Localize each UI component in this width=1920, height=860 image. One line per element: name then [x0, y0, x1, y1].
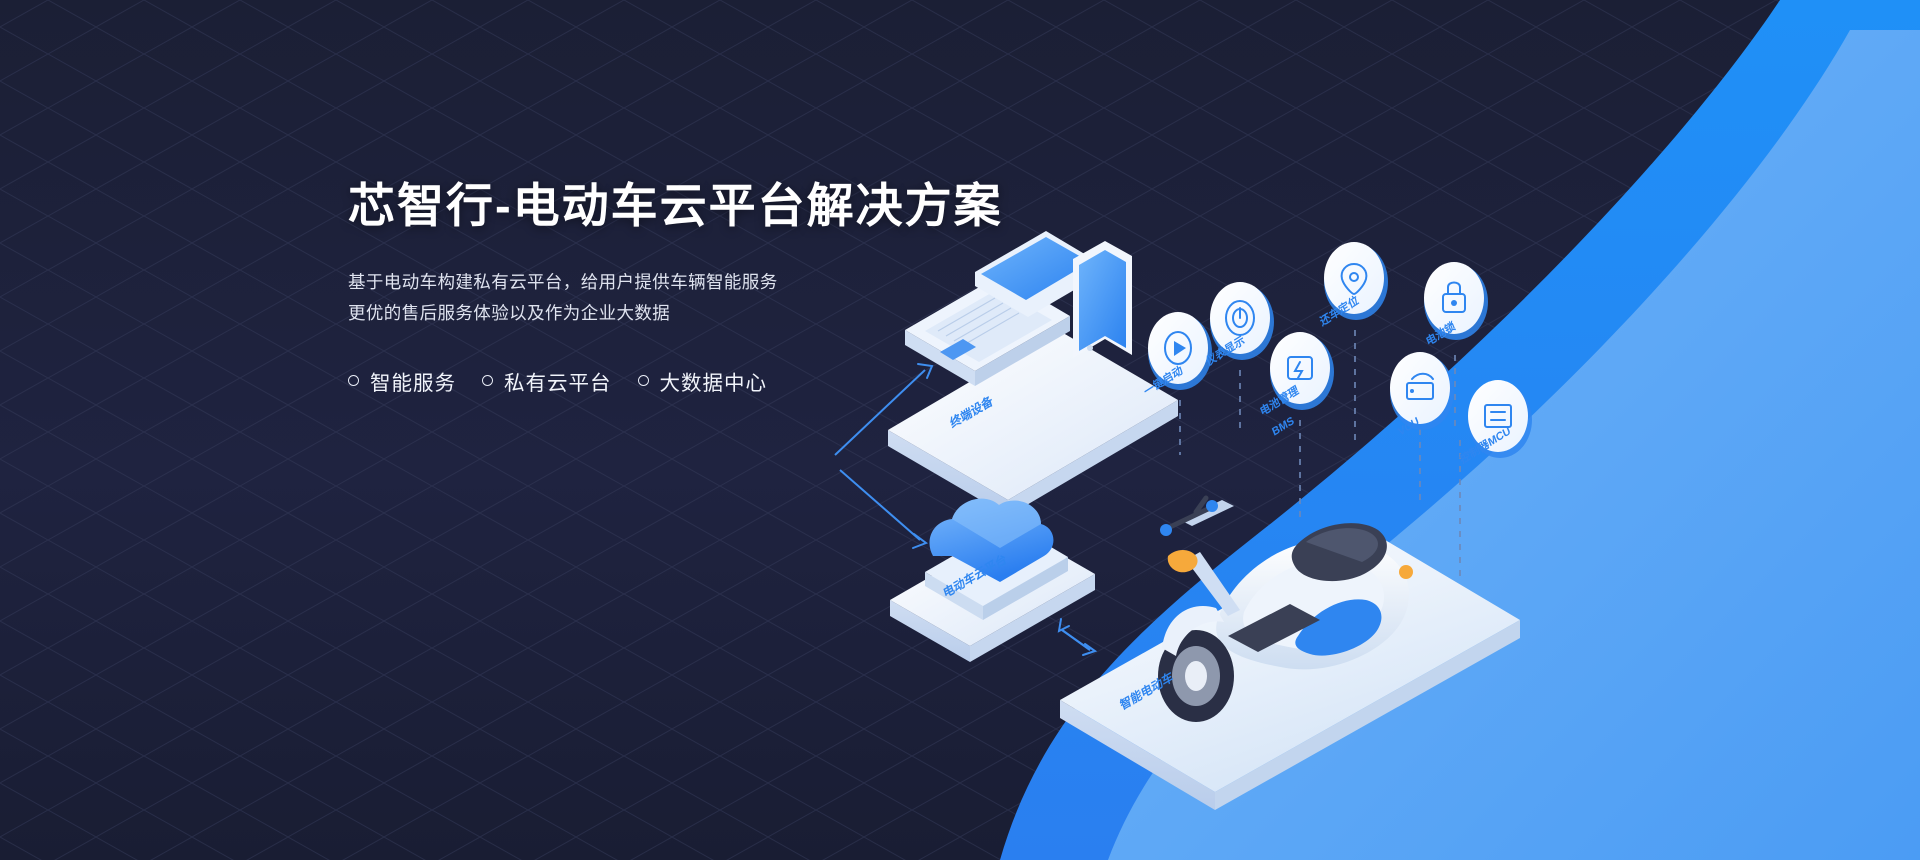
- arrow-line-cloud: [840, 470, 920, 540]
- badge-vcu[interactable]: VCU: [1390, 352, 1454, 439]
- badge-one-key-start[interactable]: 一键启动: [1142, 312, 1212, 399]
- arrow-line-bike-b: [1062, 630, 1090, 650]
- platform-ebike: 智能电动车: [1060, 498, 1520, 810]
- platform-cloud: 电动车云平台: [890, 499, 1095, 662]
- badge-dashboard-display[interactable]: 仪表显示: [1203, 282, 1274, 369]
- badge-label-sub: BMS: [1271, 415, 1296, 439]
- badge-battery-lock[interactable]: 电池锁: [1424, 262, 1488, 349]
- platform-terminal-devices: 终端设备: [888, 231, 1178, 516]
- isometric-illustration: 终端设备 电动车云平台: [0, 0, 1920, 860]
- badge-return-location[interactable]: 还车定位: [1317, 242, 1388, 329]
- hero-banner: 芯智行-电动车云平台解决方案 基于电动车构建私有云平台，给用户提供车辆智能服务 …: [0, 0, 1920, 860]
- badge-battery-management[interactable]: 电池管理 BMS: [1258, 332, 1334, 439]
- badge-controller-mcu[interactable]: 控制器MCU: [1458, 380, 1532, 467]
- arrow-head-bike-b: [1059, 619, 1069, 631]
